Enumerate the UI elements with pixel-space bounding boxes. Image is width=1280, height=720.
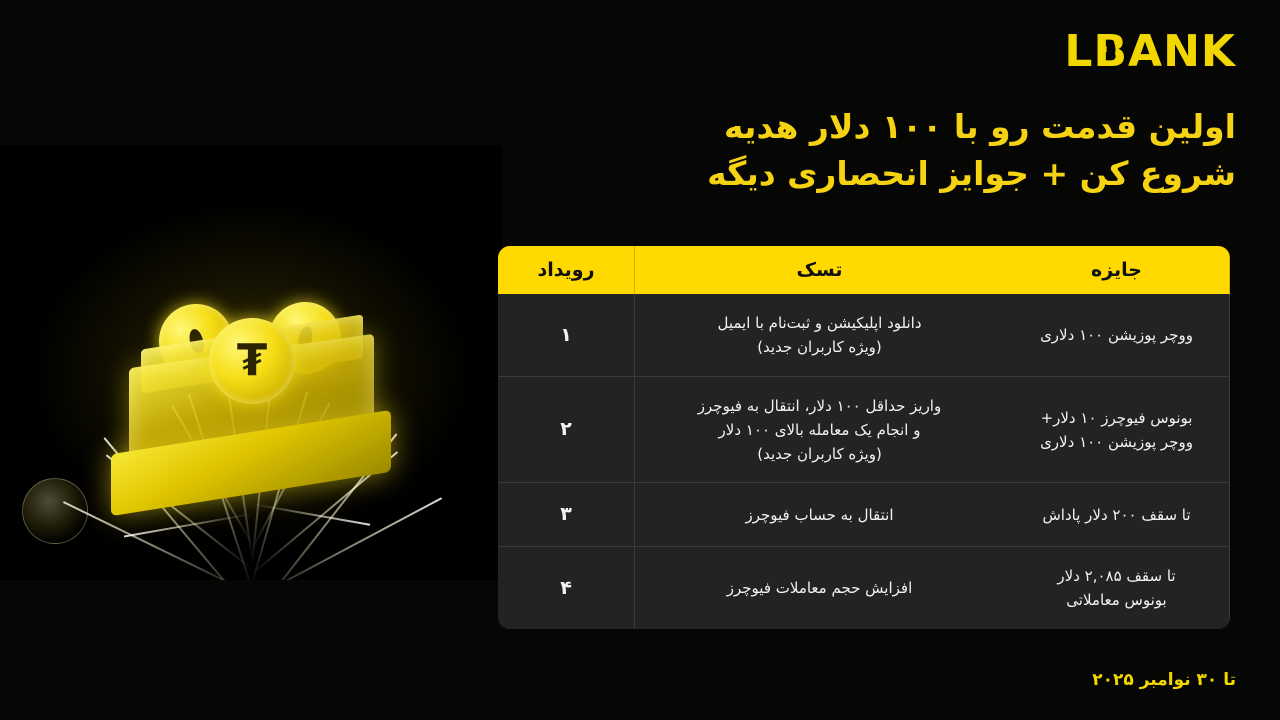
table-body: ووچر پوزیشن ۱۰۰ دلاری دانلود اپلیکیشن و … bbox=[498, 294, 1230, 629]
treasure-box: ₮ bbox=[101, 274, 401, 504]
cell-prize: بونوس فیوچرز ۱۰ دلار+ ووچر پوزیشن ۱۰۰ دل… bbox=[1004, 377, 1230, 482]
table-row: بونوس فیوچرز ۱۰ دلار+ ووچر پوزیشن ۱۰۰ دل… bbox=[498, 376, 1230, 482]
prize-line: بونوس فیوچرز ۱۰ دلار+ bbox=[1040, 406, 1193, 430]
cell-event: ۱ bbox=[498, 294, 635, 376]
headline-line-1: اولین قدمت رو با ۱۰۰ دلار هدیه bbox=[596, 104, 1236, 151]
column-header-event: رویداد bbox=[498, 246, 635, 294]
cell-prize: ووچر پوزیشن ۱۰۰ دلاری bbox=[1004, 294, 1230, 376]
prize-line: بونوس معاملاتی bbox=[1057, 588, 1175, 612]
table-row: تا سقف ۲۰۰ دلار پاداش انتقال به حساب فیو… bbox=[498, 482, 1230, 546]
promo-banner: L B ANK اولین قدمت رو با ۱۰۰ دلار هدیه ش… bbox=[0, 0, 1280, 720]
table-header-row: جایزه تسک رویداد bbox=[498, 246, 1230, 294]
task-line: (ویژه کاربران جدید) bbox=[698, 442, 941, 466]
cell-prize: تا سقف ۲,۰۸۵ دلار بونوس معاملاتی bbox=[1004, 547, 1230, 629]
usdt-coin-icon: ₮ bbox=[209, 318, 295, 404]
task-line: و انجام یک معامله بالای ۱۰۰ دلار bbox=[698, 418, 941, 442]
prize-line: ووچر پوزیشن ۱۰۰ دلاری bbox=[1040, 430, 1193, 454]
task-line: واریز حداقل ۱۰۰ دلار، انتقال به فیوچرز bbox=[698, 394, 941, 418]
logo-letter-b: B bbox=[1093, 26, 1128, 77]
cell-event: ۳ bbox=[498, 483, 635, 546]
table-row: ووچر پوزیشن ۱۰۰ دلاری دانلود اپلیکیشن و … bbox=[498, 294, 1230, 376]
page-title: اولین قدمت رو با ۱۰۰ دلار هدیه شروع کن +… bbox=[596, 104, 1236, 198]
prize-line: تا سقف ۲۰۰ دلار پاداش bbox=[1042, 503, 1190, 527]
logo-letter-b-text: B bbox=[1093, 26, 1128, 77]
cell-event: ۴ bbox=[498, 547, 635, 629]
decorative-orb bbox=[22, 478, 88, 544]
usdt-symbol: ₮ bbox=[237, 335, 268, 386]
table-row: تا سقف ۲,۰۸۵ دلار بونوس معاملاتی افزایش … bbox=[498, 546, 1230, 629]
task-line: انتقال به حساب فیوچرز bbox=[745, 503, 893, 527]
cell-task: افزایش حجم معاملات فیوچرز bbox=[635, 547, 1004, 629]
cell-task: انتقال به حساب فیوچرز bbox=[635, 483, 1004, 546]
promo-artwork: ₮ bbox=[0, 145, 502, 580]
logo-letters-ank: ANK bbox=[1128, 26, 1236, 77]
prize-line: تا سقف ۲,۰۸۵ دلار bbox=[1057, 564, 1175, 588]
logo-letter-l: L bbox=[1064, 26, 1093, 77]
lbank-logo: L B ANK bbox=[1064, 26, 1236, 77]
task-line: دانلود اپلیکیشن و ثبت‌نام با ایمیل bbox=[717, 311, 921, 335]
task-line: افزایش حجم معاملات فیوچرز bbox=[727, 576, 913, 600]
cell-task: دانلود اپلیکیشن و ثبت‌نام با ایمیل (ویژه… bbox=[635, 294, 1004, 376]
deadline-text: تا ۳۰ نوامبر ۲۰۲۵ bbox=[1092, 670, 1236, 690]
prize-line: ووچر پوزیشن ۱۰۰ دلاری bbox=[1040, 323, 1193, 347]
headline-line-2: شروع کن + جوایز انحصاری دیگه bbox=[596, 151, 1236, 198]
cell-task: واریز حداقل ۱۰۰ دلار، انتقال به فیوچرز و… bbox=[635, 377, 1004, 482]
column-header-task: تسک bbox=[635, 246, 1004, 294]
cell-event: ۲ bbox=[498, 377, 635, 482]
cell-prize: تا سقف ۲۰۰ دلار پاداش bbox=[1004, 483, 1230, 546]
tasks-table: جایزه تسک رویداد ووچر پوزیشن ۱۰۰ دلاری د… bbox=[498, 246, 1230, 629]
column-header-prize: جایزه bbox=[1004, 246, 1230, 294]
task-line: (ویژه کاربران جدید) bbox=[717, 335, 921, 359]
